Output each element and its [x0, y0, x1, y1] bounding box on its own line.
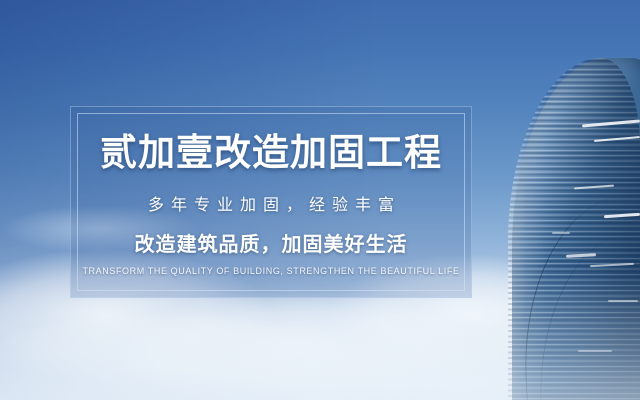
banner-subtitle: 多年专业加固，经验丰富	[141, 191, 401, 215]
glass-glint	[608, 300, 638, 302]
panel-content: 贰加壹改造加固工程 多年专业加固，经验丰富 改造建筑品质，加固美好生活 TRAN…	[71, 107, 471, 297]
text-panel: 贰加壹改造加固工程 多年专业加固，经验丰富 改造建筑品质，加固美好生活 TRAN…	[70, 106, 472, 298]
banner-english-tagline: TRANSFORM THE QUALITY OF BUILDING, STREN…	[82, 266, 459, 276]
glass-glint	[552, 232, 570, 234]
promo-banner: 贰加壹改造加固工程 多年专业加固，经验丰富 改造建筑品质，加固美好生活 TRAN…	[0, 0, 640, 400]
banner-slogan: 改造建筑品质，加固美好生活	[135, 228, 408, 257]
glass-glint	[578, 350, 612, 352]
banner-title: 贰加壹改造加固工程	[100, 133, 442, 174]
skyscraper-image	[508, 58, 640, 400]
